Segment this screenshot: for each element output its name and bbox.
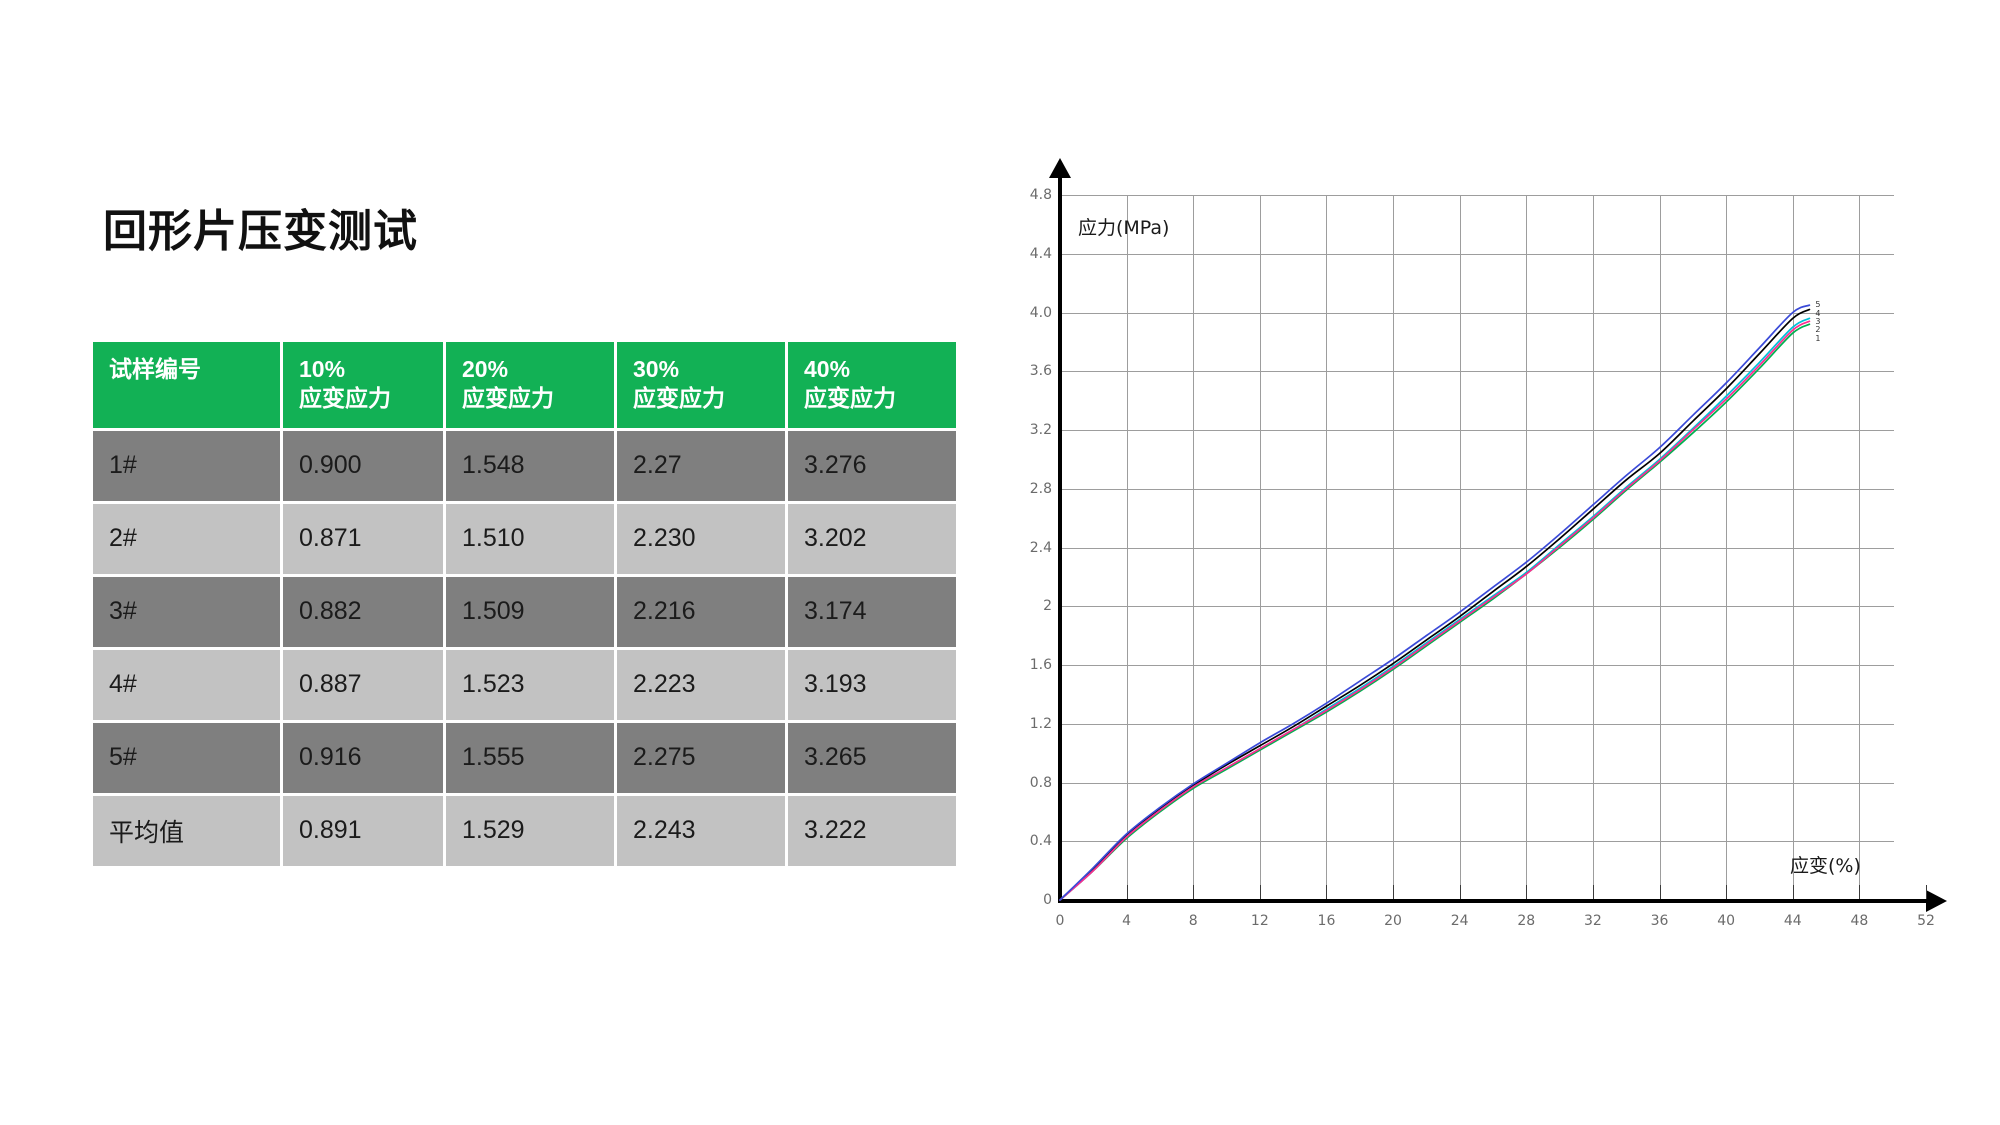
cell-strain-10: 0.891 xyxy=(283,796,443,866)
cell-strain-20: 1.509 xyxy=(446,577,614,647)
cell-strain-20: 1.548 xyxy=(446,431,614,501)
series-line-2 xyxy=(1060,318,1809,900)
column-header-sample-id: 试样编号 xyxy=(93,342,280,428)
table-row: 2# 0.871 1.510 2.230 3.202 xyxy=(93,504,956,574)
header-pct-3: 30% xyxy=(633,355,769,384)
table-header-row: 试样编号 10% 应变应力 20% 应变应力 30% 应变应力 xyxy=(93,342,956,428)
header-sub-0: 试样编号 xyxy=(109,355,264,384)
column-header-strain-20: 20% 应变应力 xyxy=(446,342,614,428)
cell-strain-10: 0.916 xyxy=(283,723,443,793)
header-sub-3: 应变应力 xyxy=(633,384,769,413)
cell-strain-10: 0.871 xyxy=(283,504,443,574)
curve-endpoint-labels: 54321 xyxy=(1815,301,1820,343)
cell-strain-30: 2.216 xyxy=(617,577,785,647)
cell-strain-40: 3.202 xyxy=(788,504,956,574)
cell-strain-20: 1.529 xyxy=(446,796,614,866)
column-header-strain-10: 10% 应变应力 xyxy=(283,342,443,428)
page-title: 回形片压变测试 xyxy=(103,195,418,259)
cell-strain-30: 2.27 xyxy=(617,431,785,501)
header-pct-2: 20% xyxy=(462,355,598,384)
cell-strain-30: 2.230 xyxy=(617,504,785,574)
header-sub-4: 应变应力 xyxy=(804,384,940,413)
stress-strain-table: 试样编号 10% 应变应力 20% 应变应力 30% 应变应力 xyxy=(90,339,959,869)
endpoint-label: 1 xyxy=(1815,335,1820,343)
column-header-strain-40: 40% 应变应力 xyxy=(788,342,956,428)
stress-strain-chart: 00.40.81.21.622.42.83.23.64.04.44.8 0481… xyxy=(1000,175,1960,965)
cell-strain-10: 0.900 xyxy=(283,431,443,501)
cell-strain-40: 3.193 xyxy=(788,650,956,720)
table-row: 3# 0.882 1.509 2.216 3.174 xyxy=(93,577,956,647)
cell-strain-30: 2.243 xyxy=(617,796,785,866)
cell-sample-id: 5# xyxy=(93,723,280,793)
table-row: 1# 0.900 1.548 2.27 3.276 xyxy=(93,431,956,501)
series-line-4 xyxy=(1060,321,1809,900)
table-row: 4# 0.887 1.523 2.223 3.193 xyxy=(93,650,956,720)
cell-strain-30: 2.223 xyxy=(617,650,785,720)
cell-sample-id: 4# xyxy=(93,650,280,720)
column-header-strain-30: 30% 应变应力 xyxy=(617,342,785,428)
header-pct-1: 10% xyxy=(299,355,427,384)
cell-strain-10: 0.887 xyxy=(283,650,443,720)
cell-strain-20: 1.523 xyxy=(446,650,614,720)
cell-strain-10: 0.882 xyxy=(283,577,443,647)
series-line-1 xyxy=(1060,310,1809,900)
chart-series-lines xyxy=(1000,175,1960,965)
cell-strain-20: 1.510 xyxy=(446,504,614,574)
table-row: 5# 0.916 1.555 2.275 3.265 xyxy=(93,723,956,793)
cell-strain-40: 3.222 xyxy=(788,796,956,866)
cell-sample-id: 1# xyxy=(93,431,280,501)
cell-strain-40: 3.265 xyxy=(788,723,956,793)
cell-sample-id: 平均值 xyxy=(93,796,280,866)
data-table-container: 试样编号 10% 应变应力 20% 应变应力 30% 应变应力 xyxy=(90,339,943,869)
series-line-5 xyxy=(1060,305,1809,900)
slide-canvas: 回形片压变测试 试样编号 10% 应变应力 20% xyxy=(0,0,2000,1125)
cell-strain-40: 3.276 xyxy=(788,431,956,501)
header-pct-4: 40% xyxy=(804,355,940,384)
cell-strain-40: 3.174 xyxy=(788,577,956,647)
cell-sample-id: 3# xyxy=(93,577,280,647)
header-sub-2: 应变应力 xyxy=(462,384,598,413)
table-row-average: 平均值 0.891 1.529 2.243 3.222 xyxy=(93,796,956,866)
cell-strain-20: 1.555 xyxy=(446,723,614,793)
cell-strain-30: 2.275 xyxy=(617,723,785,793)
cell-sample-id: 2# xyxy=(93,504,280,574)
header-sub-1: 应变应力 xyxy=(299,384,427,413)
